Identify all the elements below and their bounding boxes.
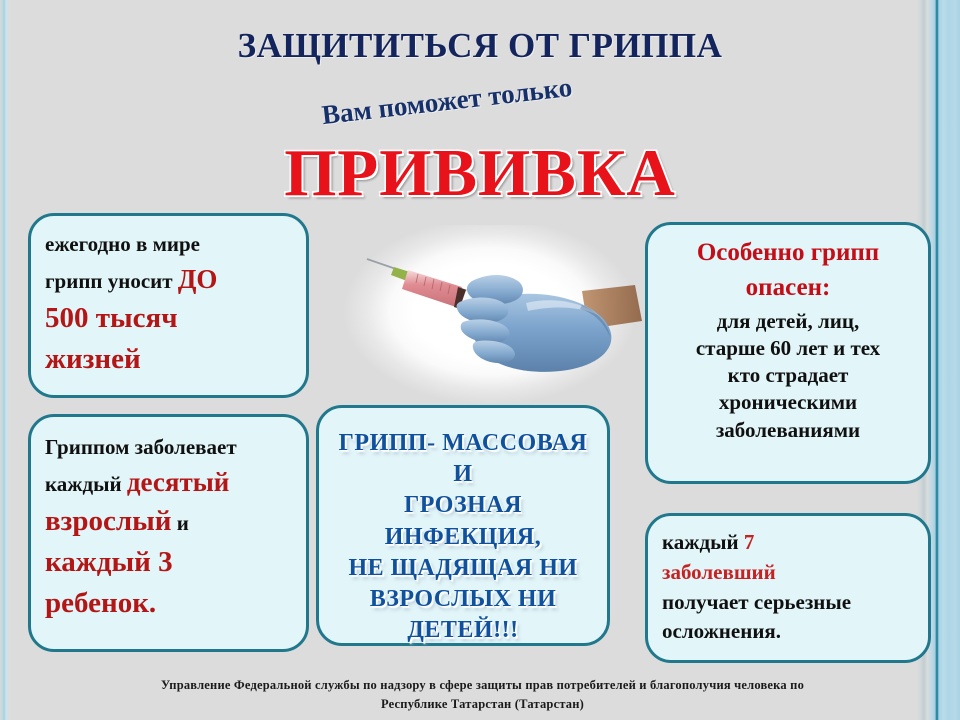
danger-body-3: кто страдает [662, 362, 914, 389]
seventh-line-4: осложнения. [662, 617, 914, 647]
danger-head-2: опасен: [662, 272, 914, 303]
danger-head-1: Особенно грипп [662, 237, 914, 268]
seventh-line-3: получает серьезные [662, 588, 914, 618]
info-box-especially-dangerous-text: Особенно грипп опасен: для детей, лиц, с… [648, 225, 928, 452]
mass-line-4: ВЗРОСЛЫХ НИ [333, 584, 593, 615]
info-box-annual-deaths: ежегодно в мире грипп уносит ДО 500 тыся… [28, 213, 309, 398]
tenth-line-3: взрослый и [45, 501, 292, 542]
mass-line-2: ГРОЗНАЯ ИНФЕКЦИЯ, [333, 490, 593, 552]
annual-line-3: 500 тысяч [45, 298, 292, 339]
info-box-mass-infection-text: ГРИПП- МАССОВАЯ И ГРОЗНАЯ ИНФЕКЦИЯ, НЕ Щ… [319, 408, 607, 654]
info-box-annual-deaths-text: ежегодно в мире грипп уносит ДО 500 тыся… [31, 216, 306, 388]
left-edge-stripe [0, 0, 11, 720]
danger-body-4: хроническими [662, 389, 914, 416]
tenth-line-4: каждый 3 [45, 542, 292, 583]
seventh-line-2: заболевший [662, 558, 914, 588]
page-highlight-word: ПРИВИВКА [0, 135, 960, 212]
annual-line-1: ежегодно в мире [45, 230, 292, 260]
tenth-line-2: каждый десятый [45, 463, 292, 501]
annual-line-4: жизней [45, 339, 292, 380]
danger-body-2: старше 60 лет и тех [662, 335, 914, 362]
footer-line-2: Республике Татарстан (Татарстан) [55, 695, 910, 714]
danger-body-5: заболеваниями [662, 417, 914, 444]
needle-shape [367, 259, 396, 269]
mass-line-5: ДЕТЕЙ!!! [333, 615, 593, 646]
info-box-every-seventh: каждый 7 заболевший получает серьезные о… [645, 513, 931, 663]
seventh-line-1: каждый 7 [662, 528, 914, 558]
info-box-every-seventh-text: каждый 7 заболевший получает серьезные о… [648, 516, 928, 655]
danger-body-1: для детей, лиц, [662, 308, 914, 335]
page-subtitle: Вам поможет только [281, 67, 612, 135]
page-title: ЗАЩИТИТЬСЯ ОТ ГРИППА [0, 26, 960, 66]
mass-line-1: ГРИПП- МАССОВАЯ И [333, 428, 593, 490]
info-box-mass-infection: ГРИПП- МАССОВАЯ И ГРОЗНАЯ ИНФЕКЦИЯ, НЕ Щ… [316, 405, 610, 646]
info-box-every-tenth: Гриппом заболевает каждый десятый взросл… [28, 414, 309, 652]
info-box-especially-dangerous: Особенно грипп опасен: для детей, лиц, с… [645, 222, 931, 484]
mass-line-3: НЕ ЩАДЯЩАЯ НИ [333, 553, 593, 584]
footer-attribution: Управление Федеральной службы по надзору… [55, 676, 910, 715]
info-box-every-tenth-text: Гриппом заболевает каждый десятый взросл… [31, 417, 306, 633]
gloved-hand-syringe-illustration [330, 225, 650, 405]
tenth-line-1: Гриппом заболевает [45, 433, 292, 463]
footer-line-1: Управление Федеральной службы по надзору… [55, 676, 910, 695]
annual-line-2: грипп уносит ДО [45, 260, 292, 298]
glove-middle-finger-shape [457, 298, 509, 323]
tenth-line-5: ребенок. [45, 583, 292, 624]
poster-root: ЗАЩИТИТЬСЯ ОТ ГРИППА Вам поможет только … [0, 0, 960, 720]
